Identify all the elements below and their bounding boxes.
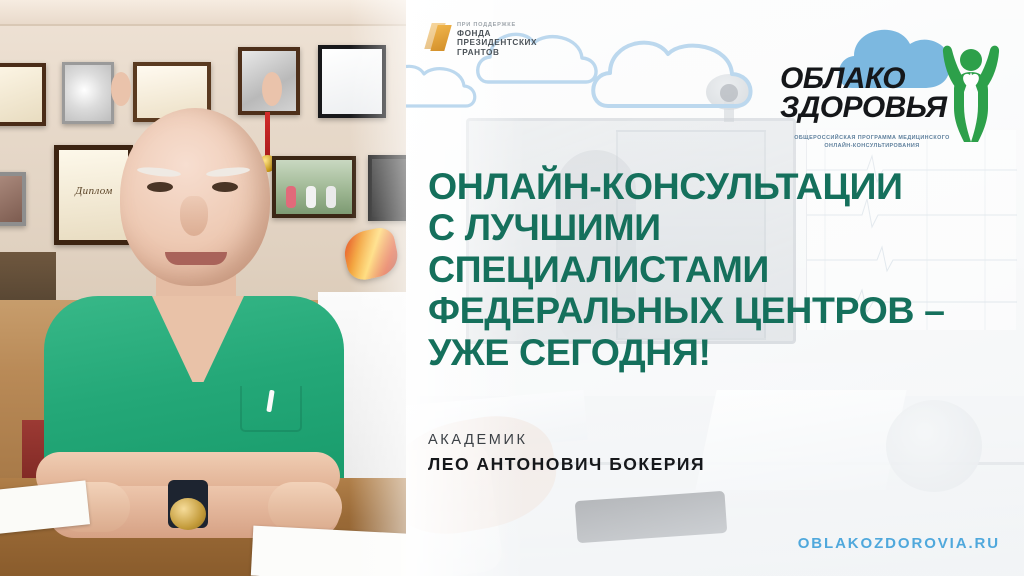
attribution-role: АКАДЕМИК	[428, 432, 705, 448]
photo-edge-fade	[0, 0, 406, 576]
fund-name-line-2: ПРЕЗИДЕНТСКИХ	[457, 38, 537, 48]
brand-name-line-1: ОБЛАКО	[780, 62, 905, 95]
oblako-zdorovia-logo[interactable]: ОБЛАКО ЗДОРОВЬЯ ОБЩЕРОССИЙСКАЯ ПРОГРАММА…	[780, 18, 1010, 168]
headline-line-3: СПЕЦИАЛИСТАМИ	[428, 249, 1014, 290]
fund-name-line-1: ФОНДА	[457, 29, 537, 39]
attribution-name: ЛЕО АНТОНОВИЧ БОКЕРИЯ	[428, 454, 705, 475]
headline-line-4: ФЕДЕРАЛЬНЫХ ЦЕНТРОВ –	[428, 290, 1014, 331]
headline-line-5: УЖЕ СЕГОДНЯ!	[428, 332, 1014, 373]
presidential-grants-fund-logo: ПРИ ПОДДЕРЖКЕ ФОНДА ПРЕЗИДЕНТСКИХ ГРАНТО…	[428, 20, 568, 74]
content-panel: ПРИ ПОДДЕРЖКЕ ФОНДА ПРЕЗИДЕНТСКИХ ГРАНТО…	[406, 0, 1024, 576]
headline-line-1: ОНЛАЙН-КОНСУЛЬТАЦИИ	[428, 166, 1014, 207]
brand-subtitle: ОБЩЕРОССИЙСКАЯ ПРОГРАММА МЕДИЦИНСКОГО ОН…	[792, 134, 952, 151]
promo-poster: Диплом	[0, 0, 1024, 576]
attribution: АКАДЕМИК ЛЕО АНТОНОВИЧ БОКЕРИЯ	[428, 432, 705, 475]
grant-ribbon-icon	[428, 23, 450, 57]
page-title: ОНЛАЙН-КОНСУЛЬТАЦИИ С ЛУЧШИМИ СПЕЦИАЛИСТ…	[428, 166, 1014, 373]
brand-name: ОБЛАКО ЗДОРОВЬЯ	[780, 64, 952, 123]
person-with-heart-icon	[940, 36, 1002, 149]
fund-support-line: ПРИ ПОДДЕРЖКЕ	[457, 22, 537, 29]
fund-name-line-3: ГРАНТОВ	[457, 48, 537, 58]
website-url[interactable]: OBLAKOZDOROVIA.RU	[798, 535, 1000, 552]
headline-line-2: С ЛУЧШИМИ	[428, 207, 1014, 248]
fund-logo-text: ПРИ ПОДДЕРЖКЕ ФОНДА ПРЕЗИДЕНТСКИХ ГРАНТО…	[457, 20, 537, 58]
doctor-photo: Диплом	[0, 0, 406, 576]
cloud-outline-icon	[582, 12, 782, 124]
brand-name-line-2: ЗДОРОВЬЯ	[780, 93, 952, 122]
